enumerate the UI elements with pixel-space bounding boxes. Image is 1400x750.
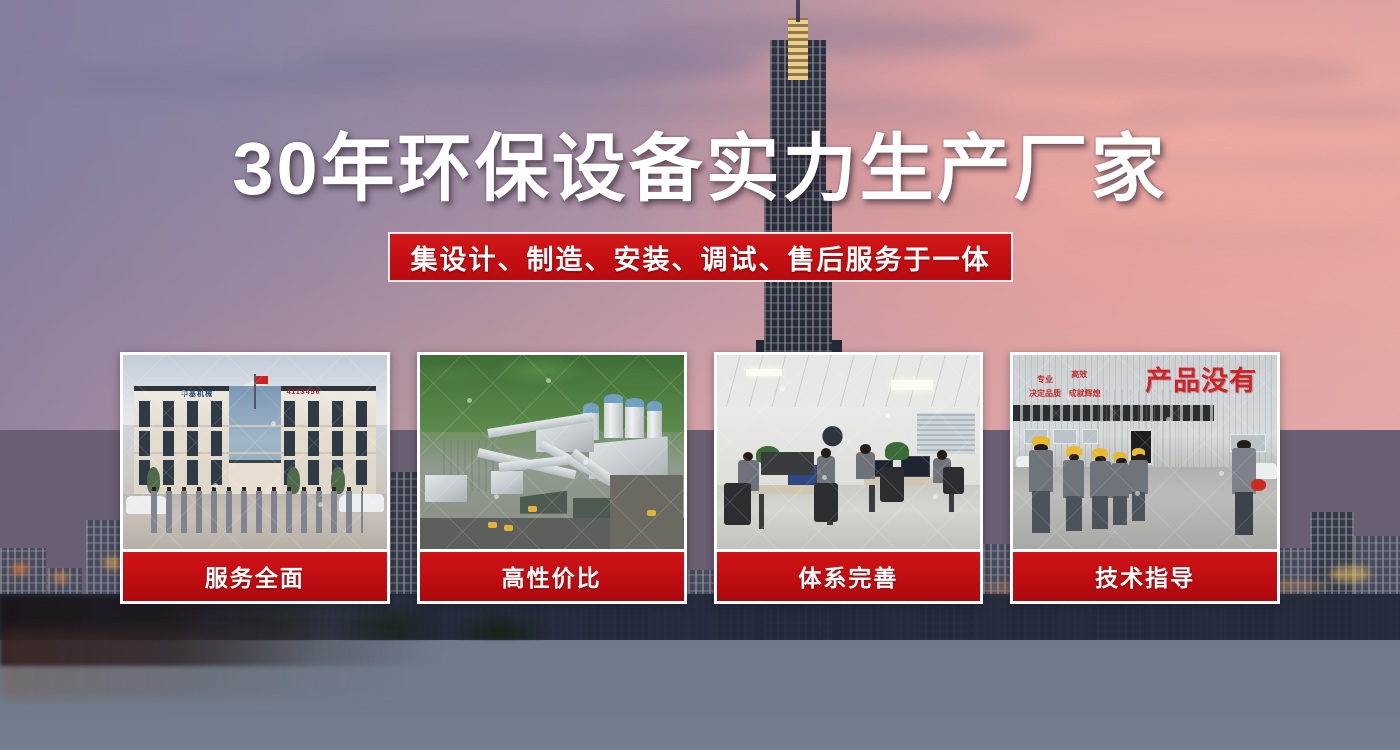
factory-sign-small-text: 专业 xyxy=(1037,374,1053,385)
tower-spire xyxy=(796,0,800,22)
page-title: 30年环保设备实力生产厂家 xyxy=(0,132,1400,206)
card-label: 体系完善 xyxy=(717,552,981,601)
promotional-banner: 30年环保设备实力生产厂家 集设计、制造、安装、调试、售后服务于一体 xyxy=(0,0,1400,750)
card-label: 服务全面 xyxy=(123,552,387,601)
card-label: 高性价比 xyxy=(420,552,684,601)
feature-card[interactable]: 产品没有 专业 高效 决定品质 成就辉煌 xyxy=(1010,352,1280,604)
production-plant-aerial-photo xyxy=(420,355,684,549)
staff-lineup xyxy=(147,491,363,534)
red-helmet-icon xyxy=(1251,479,1267,491)
building-phone-number: 4113456 xyxy=(287,389,321,396)
feature-card[interactable]: 中基机械 4113456 服务全面 xyxy=(120,352,390,604)
workshop-workers-photo: 产品没有 专业 高效 决定品质 成就辉煌 xyxy=(1013,355,1277,549)
wall-decal xyxy=(811,417,853,448)
shoreline-light-reflection xyxy=(0,630,400,700)
card-label: 技术指导 xyxy=(1013,552,1277,601)
feature-card[interactable]: 高性价比 xyxy=(417,352,687,604)
building-signage-text: 中基机械 xyxy=(181,389,213,399)
factory-sign-small-text: 高效 xyxy=(1071,369,1087,380)
feature-card-row: 中基机械 4113456 服务全面 xyxy=(120,352,1280,604)
feature-card[interactable]: 体系完善 xyxy=(714,352,984,604)
tower-illuminated-crown xyxy=(788,18,808,80)
company-headquarters-photo: 中基机械 4113456 xyxy=(123,355,387,549)
factory-sign-small-text: 成就辉煌 xyxy=(1069,388,1101,399)
office-interior-photo xyxy=(717,355,981,549)
subtitle-banner: 集设计、制造、安装、调试、售后服务于一体 xyxy=(388,232,1013,282)
factory-sign-small-text: 决定品质 xyxy=(1029,388,1061,399)
subtitle-text: 集设计、制造、安装、调试、售后服务于一体 xyxy=(411,238,991,277)
flag-icon xyxy=(256,376,268,384)
